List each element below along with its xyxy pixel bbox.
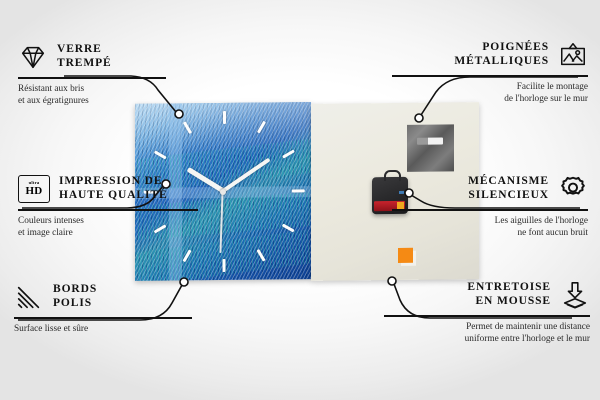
second-hand bbox=[220, 191, 224, 253]
ultra-hd-icon: ultra HD bbox=[18, 175, 50, 203]
feature-mecanisme-silencieux: MÉCANISME SILENCIEUX Les aiguilles de l'… bbox=[392, 172, 588, 240]
feature-title: ENTRETOISE EN MOUSSE bbox=[467, 281, 551, 308]
hour-tick bbox=[257, 121, 266, 134]
hour-tick bbox=[223, 111, 226, 124]
divider bbox=[384, 315, 590, 317]
feature-header: POIGNÉES MÉTALLIQUES bbox=[392, 38, 588, 72]
feature-description: Couleurs intenses et image claire bbox=[18, 215, 208, 240]
feature-description: Facilite le montage de l'horloge sur le … bbox=[392, 81, 588, 106]
feature-title: POIGNÉES MÉTALLIQUES bbox=[454, 41, 549, 68]
feature-impression-haute-qualite: ultra HD IMPRESSION DE HAUTE QUALITÉ Cou… bbox=[18, 172, 208, 240]
diagonal-lines-icon bbox=[14, 282, 44, 312]
hour-tick bbox=[183, 122, 192, 134]
feature-entretoise-en-mousse: ENTRETOISE EN MOUSSE Permet de maintenir… bbox=[384, 278, 590, 346]
gear-icon bbox=[558, 174, 588, 204]
infographic-canvas: VERRE TREMPÉ Résistant aux bris et aux é… bbox=[0, 0, 600, 400]
feature-description: Les aiguilles de l'horloge ne font aucun… bbox=[392, 215, 588, 240]
feature-description: Permet de maintenir une distance uniform… bbox=[384, 321, 590, 346]
hands-cap bbox=[220, 188, 226, 194]
feature-bords-polis: BORDS POLIS Surface lisse et sûre bbox=[14, 280, 204, 335]
divider bbox=[18, 77, 166, 79]
divider bbox=[18, 209, 198, 211]
hour-tick bbox=[282, 149, 295, 158]
feature-title: BORDS POLIS bbox=[53, 283, 97, 310]
divider bbox=[392, 209, 588, 211]
feature-header: ENTRETOISE EN MOUSSE bbox=[384, 278, 590, 312]
hanging-picture-frame-icon bbox=[558, 40, 588, 70]
feature-title: IMPRESSION DE HAUTE QUALITÉ bbox=[59, 175, 168, 202]
diamond-icon bbox=[18, 42, 48, 72]
feature-title: MÉCANISME SILENCIEUX bbox=[468, 175, 549, 202]
divider bbox=[392, 75, 588, 77]
hour-tick bbox=[257, 249, 266, 261]
arrow-down-foam-icon bbox=[560, 280, 590, 310]
hour-tick bbox=[282, 224, 295, 233]
feature-poignees-metalliques: POIGNÉES MÉTALLIQUES Facilite le montage… bbox=[392, 38, 588, 106]
hour-tick bbox=[223, 259, 226, 272]
divider bbox=[14, 317, 192, 319]
feature-header: MÉCANISME SILENCIEUX bbox=[392, 172, 588, 206]
hour-tick bbox=[183, 250, 192, 263]
hour-tick bbox=[292, 189, 305, 192]
feature-header: ultra HD IMPRESSION DE HAUTE QUALITÉ bbox=[18, 172, 208, 206]
feature-header: BORDS POLIS bbox=[14, 280, 204, 314]
hour-tick bbox=[154, 151, 167, 160]
feature-header: VERRE TREMPÉ bbox=[18, 40, 208, 74]
feature-description: Résistant aux bris et aux égratignures bbox=[18, 83, 208, 108]
metal-hanger-plate bbox=[407, 124, 454, 171]
feature-title: VERRE TREMPÉ bbox=[57, 43, 112, 70]
minute-hand bbox=[222, 158, 271, 193]
feature-description: Surface lisse et sûre bbox=[14, 323, 204, 336]
feature-verre-trempe: VERRE TREMPÉ Résistant aux bris et aux é… bbox=[18, 40, 208, 108]
foam-spacer bbox=[398, 248, 413, 263]
